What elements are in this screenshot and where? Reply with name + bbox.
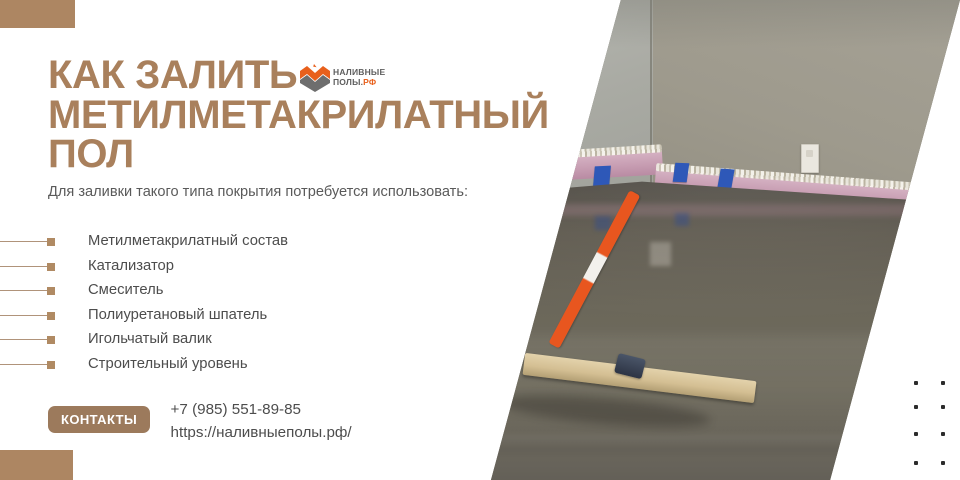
bullet-lead-line (0, 266, 47, 267)
logo-line-2: ПОЛЫ.РФ (333, 77, 385, 87)
list-item-label: Строительный уровень (88, 353, 248, 376)
bullet-square-icon (47, 312, 55, 320)
list-item: Полиуретановый шпатель (0, 304, 430, 329)
list-item: Катализатор (0, 255, 430, 280)
grid-dot (941, 381, 945, 385)
list-item: Строительный уровень (0, 353, 430, 378)
grid-dot (941, 461, 945, 465)
list-item-label: Полиуретановый шпатель (88, 304, 267, 327)
contacts-details: +7 (985) 551-89-85 https://наливныеполы.… (171, 398, 352, 444)
bullet-lead-line (0, 241, 47, 242)
list-item: Смеситель (0, 279, 430, 304)
grid-dot (914, 381, 918, 385)
list-item-label: Игольчатый валик (88, 328, 212, 351)
wall-outlet-right (801, 144, 819, 173)
contact-phone[interactable]: +7 (985) 551-89-85 (171, 398, 352, 421)
grid-dot (941, 405, 945, 409)
dot-grid-decoration (908, 374, 952, 470)
list-item-label: Катализатор (88, 255, 174, 278)
floor-reflection-tape-2 (675, 213, 689, 226)
grid-dot (941, 432, 945, 436)
promo-banner: КАК ЗАЛИТЬ МЕТИЛМЕТАКРИЛАТНЫЙ ПОЛ НАЛИВН… (0, 0, 960, 480)
list-item: Метилметакрилатный состав (0, 230, 430, 255)
blue-tape-2 (672, 163, 689, 183)
logo-tld: РФ (363, 77, 376, 87)
grid-dot (914, 461, 918, 465)
bullet-lead-line (0, 364, 47, 365)
logo-line-1: НАЛИВНЫЕ (333, 67, 385, 77)
bullet-square-icon (47, 238, 55, 246)
materials-list: Метилметакрилатный состав Катализатор См… (0, 230, 430, 377)
list-item: Игольчатый валик (0, 328, 430, 353)
bullet-square-icon (47, 336, 55, 344)
contacts-block: КОНТАКТЫ +7 (985) 551-89-85 https://нали… (48, 398, 352, 444)
contact-website[interactable]: https://наливныеполы.рф/ (171, 421, 352, 444)
bullet-square-icon (47, 287, 55, 295)
bullet-lead-line (0, 339, 47, 340)
grid-dot (914, 405, 918, 409)
bullet-square-icon (47, 263, 55, 271)
bullet-lead-line (0, 315, 47, 316)
bullet-square-icon (47, 361, 55, 369)
contacts-badge: КОНТАКТЫ (48, 406, 150, 433)
list-item-label: Смеситель (88, 279, 163, 302)
logo-chevron-icon (300, 64, 330, 92)
blue-tape-1 (593, 165, 611, 186)
subtitle: Для заливки такого типа покрытия потребу… (48, 183, 478, 202)
grid-dot (914, 432, 918, 436)
bullet-lead-line (0, 290, 47, 291)
content-column: КАК ЗАЛИТЬ МЕТИЛМЕТАКРИЛАТНЫЙ ПОЛ НАЛИВН… (0, 0, 560, 480)
list-item-label: Метилметакрилатный состав (88, 230, 288, 253)
floor-reflection-outlet (650, 242, 671, 266)
logo-wordmark: НАЛИВНЫЕ ПОЛЫ.РФ (333, 67, 385, 87)
brand-logo[interactable]: НАЛИВНЫЕ ПОЛЫ.РФ (300, 62, 392, 96)
